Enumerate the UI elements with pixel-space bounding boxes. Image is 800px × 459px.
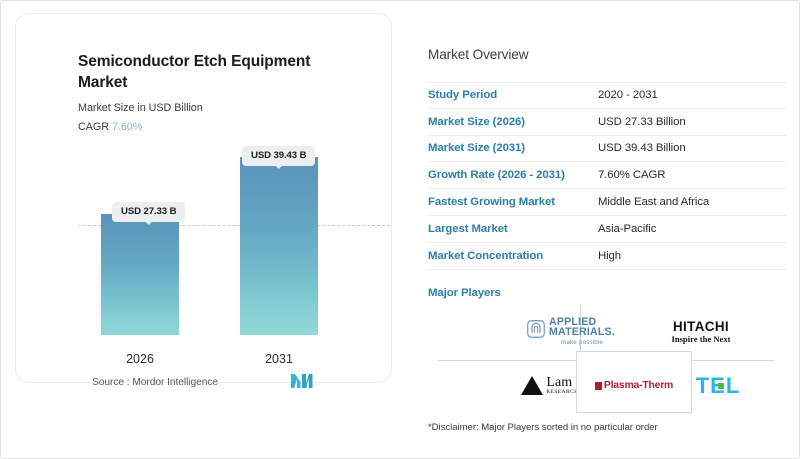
row-value: 2020 - 2031: [598, 89, 658, 101]
hitachi-wordmark: HITACHI: [671, 320, 730, 334]
bar-value-label-2026: USD 27.33 B: [112, 202, 185, 222]
lam-wordmark: Lam: [546, 376, 578, 390]
row-label: Fastest Growing Market: [428, 196, 598, 208]
tel-green-square-icon: [718, 383, 724, 389]
overview-title: Market Overview: [428, 13, 788, 82]
bar-2026[interactable]: [101, 214, 179, 335]
plasma-therm-wordmark: Plasma-Therm: [604, 380, 673, 391]
overview-table: Study Period 2020 - 2031 Market Size (20…: [428, 82, 786, 270]
row-label: Market Size (2026): [428, 116, 598, 128]
disclaimer-text: *Disclaimer: Major Players sorted in no …: [428, 422, 658, 433]
lam-research-sub: RESEARCH: [546, 390, 578, 395]
screenshot-root: Semiconductor Etch Equipment Market Mark…: [0, 0, 800, 459]
table-row: Market Size (2031) USD 39.43 Billion: [428, 136, 786, 163]
row-label: Largest Market: [428, 223, 598, 235]
row-label: Study Period: [428, 89, 598, 101]
row-value: High: [598, 250, 621, 262]
table-row: Fastest Growing Market Middle East and A…: [428, 189, 786, 216]
plasma-therm-mark-icon: [595, 382, 602, 390]
bar-chart-plot: USD 27.33 B USD 39.43 B 2026 2031: [16, 14, 393, 384]
table-row: Study Period 2020 - 2031: [428, 82, 786, 109]
hitachi-tagline: Inspire the Next: [671, 335, 730, 344]
table-row: Growth Rate (2026 - 2031) 7.60% CAGR: [428, 162, 786, 189]
row-value: Middle East and Africa: [598, 196, 709, 208]
lam-triangle-icon: [521, 376, 543, 395]
tel-wordmark: TEL: [696, 375, 741, 397]
bar-2031[interactable]: [240, 157, 318, 335]
major-players-logo-grid: APPLIED MATERIALS. make possible HITACHI…: [428, 305, 786, 413]
x-axis-label-2026: 2026: [95, 352, 185, 366]
applied-materials-tagline: make possible: [549, 340, 615, 346]
table-row: Market Concentration High: [428, 243, 786, 270]
row-label: Market Concentration: [428, 250, 598, 262]
market-overview-panel: Market Overview Study Period 2020 - 2031…: [428, 13, 788, 413]
row-label: Growth Rate (2026 - 2031): [428, 169, 598, 181]
row-value: USD 27.33 Billion: [598, 116, 686, 128]
chart-card: Semiconductor Etch Equipment Market Mark…: [15, 13, 392, 383]
row-value: 7.60% CAGR: [598, 169, 665, 181]
mordor-intelligence-logo: [291, 374, 313, 394]
applied-materials-line2: MATERIALS.: [549, 327, 615, 338]
major-players-label: Major Players: [428, 270, 788, 303]
row-value: USD 39.43 Billion: [598, 142, 686, 154]
bar-value-label-2031: USD 39.43 B: [242, 146, 315, 166]
applied-materials-mark-icon: [527, 320, 545, 343]
row-label: Market Size (2031): [428, 142, 598, 154]
source-text: Source : Mordor Intelligence: [92, 377, 218, 388]
table-row: Largest Market Asia-Pacific: [428, 216, 786, 243]
logo-plasma-therm: Plasma-Therm: [578, 363, 690, 409]
logo-hitachi: HITACHI Inspire the Next: [636, 307, 766, 357]
table-row: Market Size (2026) USD 27.33 Billion: [428, 109, 786, 136]
row-value: Asia-Pacific: [598, 223, 656, 235]
logo-applied-materials: APPLIED MATERIALS. make possible: [506, 307, 636, 357]
x-axis-label-2031: 2031: [234, 352, 324, 366]
